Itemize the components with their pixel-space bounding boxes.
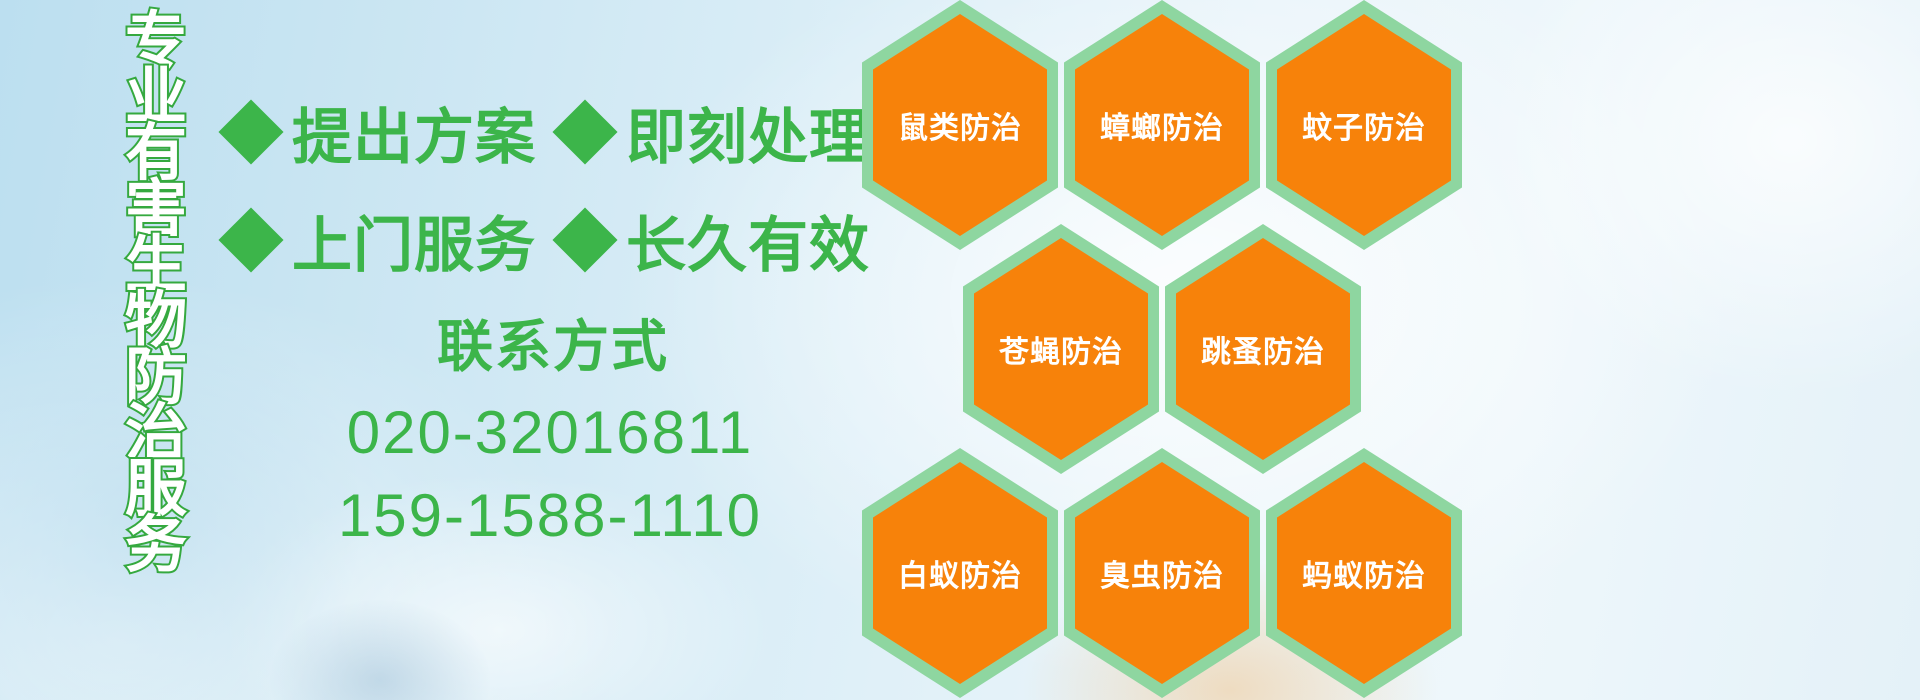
service-hex-termite[interactable]: 白蚁防治 [862,448,1058,698]
service-label: 跳蚤防治 [1201,327,1325,371]
feature-list: 提出方案 即刻处理 上门服务 长久有效 [228,78,868,294]
feature-row: 提出方案 即刻处理 [228,78,868,186]
hex-inner: 蚊子防治 [1277,14,1451,236]
hex-inner: 臭虫防治 [1075,462,1249,684]
hex-inner: 蟑螂防治 [1075,14,1249,236]
feature-label: 长久有效 [626,197,870,284]
vertical-headline-char: 专 [125,14,187,70]
service-hex-fly[interactable]: 苍蝇防治 [963,224,1159,474]
service-hex-ant[interactable]: 蚂蚁防治 [1266,448,1462,698]
diamond-icon [552,99,617,164]
feature-item-onsite-service[interactable]: 上门服务 [228,197,536,284]
service-label: 臭虫防治 [1100,551,1224,595]
feature-item-propose-plan[interactable]: 提出方案 [228,89,536,176]
contact-block: 联系方式 020-32016811 159-1588-1110 [300,312,800,556]
diamond-icon [552,207,617,272]
feature-label: 上门服务 [292,197,536,284]
vertical-headline-char: 防 [125,350,187,406]
feature-label: 提出方案 [292,89,536,176]
diamond-icon [218,99,283,164]
vertical-headline-char: 生 [125,238,187,294]
feature-label: 即刻处理 [626,89,870,176]
vertical-headline-char: 务 [125,518,187,574]
service-hex-rodent[interactable]: 鼠类防治 [862,0,1058,250]
diamond-icon [218,207,283,272]
hex-inner: 跳蚤防治 [1176,238,1350,460]
pest-control-banner: 专 业 有 害 生 物 防 治 服 务 提出方案 即刻处理 上门服务 [0,0,1920,700]
hex-inner: 苍蝇防治 [974,238,1148,460]
service-hex-mosquito[interactable]: 蚊子防治 [1266,0,1462,250]
hex-inner: 白蚁防治 [873,462,1047,684]
contact-phone-mobile[interactable]: 159-1588-1110 [300,475,800,556]
feature-item-long-lasting[interactable]: 长久有效 [562,197,870,284]
hex-inner: 蚂蚁防治 [1277,462,1451,684]
feature-row: 上门服务 长久有效 [228,186,868,294]
service-hex-cockroach[interactable]: 蟑螂防治 [1064,0,1260,250]
service-label: 鼠类防治 [898,103,1022,147]
service-label: 白蚁防治 [898,551,1022,595]
vertical-headline: 专 业 有 害 生 物 防 治 服 务 [108,14,204,574]
vertical-headline-char: 服 [125,462,187,518]
service-honeycomb: 鼠类防治 蟑螂防治 蚊子防治 苍蝇防治 跳蚤防治 白蚁防治 [862,0,1462,700]
service-label: 蚂蚁防治 [1302,551,1426,595]
feature-item-immediate-handling[interactable]: 即刻处理 [562,89,870,176]
background-blur-blob [270,600,490,700]
vertical-headline-char: 业 [125,70,187,126]
hex-inner: 鼠类防治 [873,14,1047,236]
background-blur-blob [1480,0,1920,400]
vertical-headline-char: 治 [125,406,187,462]
contact-heading: 联系方式 [306,312,800,382]
vertical-headline-char: 有 [125,126,187,182]
service-label: 蟑螂防治 [1100,103,1224,147]
vertical-headline-char: 物 [125,294,187,350]
vertical-headline-char: 害 [125,182,187,238]
service-label: 苍蝇防治 [999,327,1123,371]
service-hex-bedbug[interactable]: 臭虫防治 [1064,448,1260,698]
service-hex-flea[interactable]: 跳蚤防治 [1165,224,1361,474]
service-label: 蚊子防治 [1302,103,1426,147]
contact-phone-landline[interactable]: 020-32016811 [300,392,800,473]
